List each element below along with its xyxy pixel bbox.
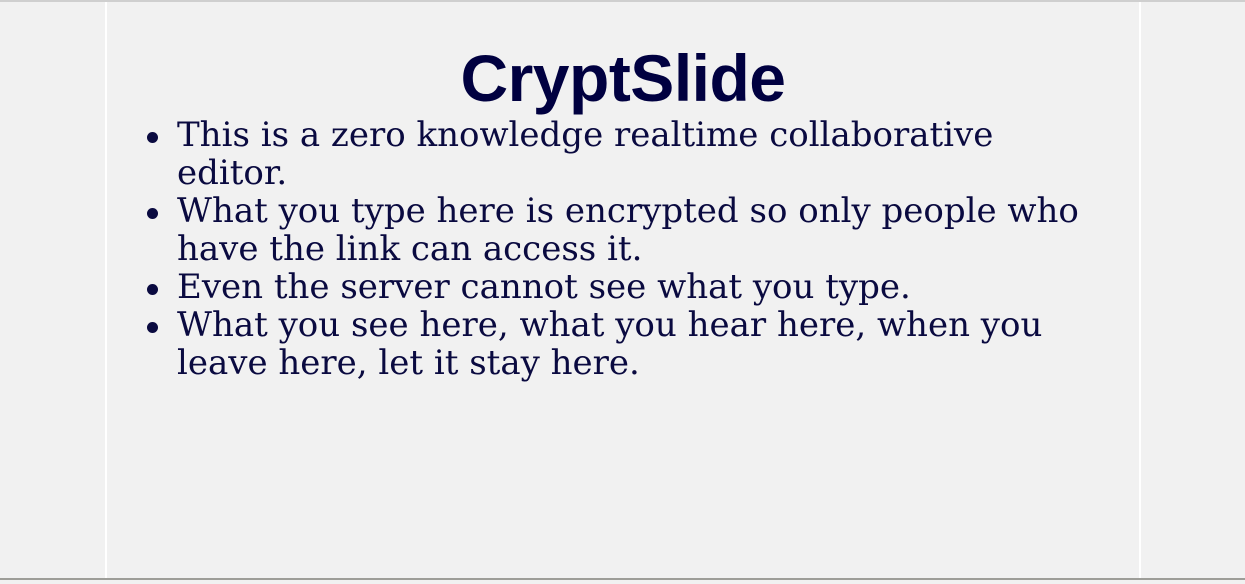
slide-canvas[interactable]: CryptSlide This is a zero knowledge real…	[107, 2, 1139, 578]
list-item: This is a zero knowledge realtime collab…	[107, 116, 1139, 192]
page-title: CryptSlide	[107, 42, 1139, 114]
list-item-label: This is a zero knowledge realtime collab…	[177, 116, 1082, 192]
list-item: Even the server cannot see what you type…	[107, 268, 1139, 306]
list-item: What you see here, what you hear here, w…	[107, 306, 1139, 382]
list-item-label: Even the server cannot see what you type…	[177, 268, 1082, 306]
bullet-dot-icon	[147, 268, 160, 306]
bottom-divider	[0, 578, 1245, 580]
bullet-dot-icon	[147, 116, 160, 154]
list-item-label: What you type here is encrypted so only …	[177, 192, 1082, 268]
list-item: What you type here is encrypted so only …	[107, 192, 1139, 268]
bullet-dot-icon	[147, 306, 160, 344]
bullet-dot-icon	[147, 192, 160, 230]
slide-bullet-list: This is a zero knowledge realtime collab…	[107, 116, 1139, 382]
presentation-viewer: CryptSlide This is a zero knowledge real…	[0, 0, 1245, 584]
slide-frame-right-edge	[1139, 2, 1141, 578]
list-item-label: What you see here, what you hear here, w…	[177, 306, 1082, 382]
